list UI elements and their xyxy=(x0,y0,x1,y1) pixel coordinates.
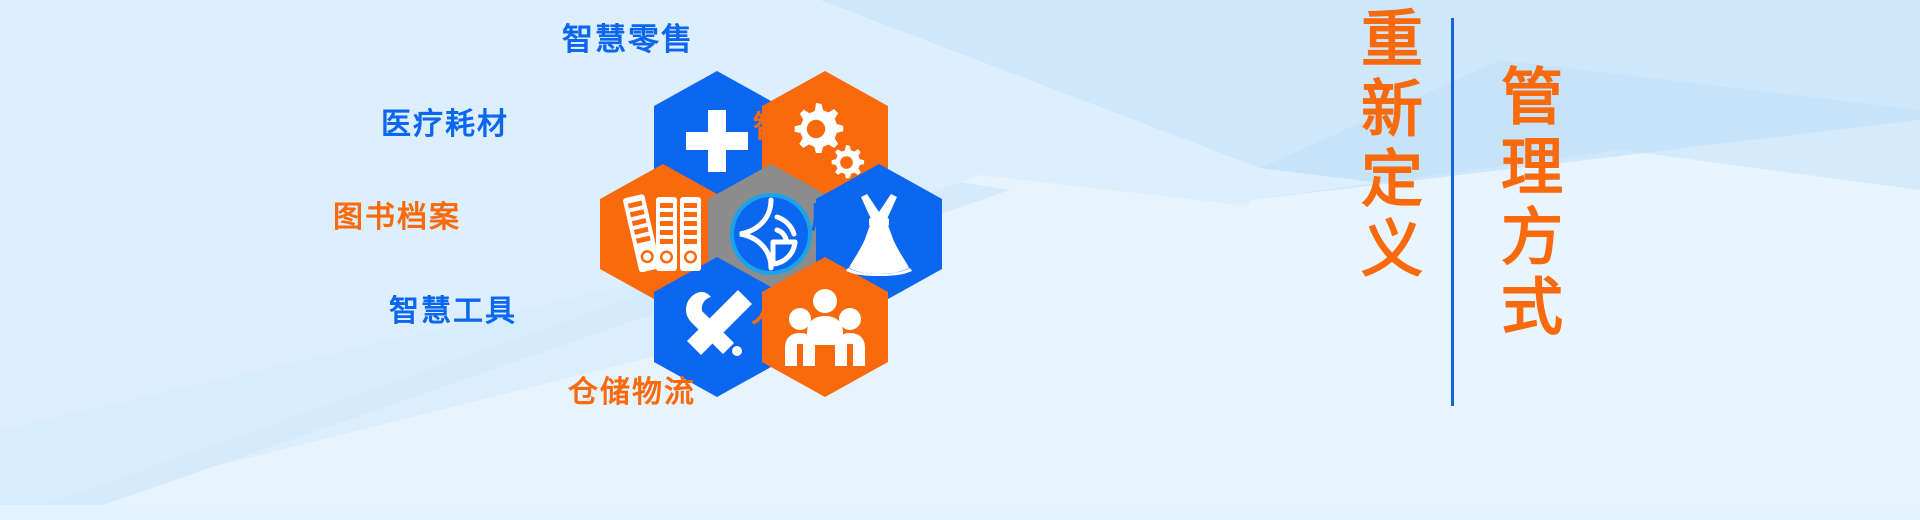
label-warehouse-logistics: 仓储物流 xyxy=(568,367,696,411)
background-decoration xyxy=(0,0,1920,520)
gears-icon xyxy=(783,101,867,181)
vertical-divider xyxy=(1451,18,1454,406)
label-medical-supplies: 医疗耗材 xyxy=(381,99,509,143)
wrench-screwdriver-icon xyxy=(676,286,758,368)
calligraphy-block: 重新定义 管理方式 xyxy=(1300,0,1620,520)
label-smart-retail: 智慧零售 xyxy=(562,14,694,59)
label-smart-tools: 智慧工具 xyxy=(389,286,517,330)
rfid-signal-logo-icon xyxy=(727,190,815,278)
dress-icon xyxy=(840,192,918,276)
binders-icon xyxy=(623,193,703,275)
people-group-icon xyxy=(783,288,867,366)
promotional-banner: 智慧零售 医疗耗材 智能制造 图书档案 服装行业 智慧工具 人员管理 仓储物流 … xyxy=(0,0,1920,520)
calligraphy-right-column: 管理方式 xyxy=(1482,64,1570,344)
calligraphy-left-column: 重新定义 xyxy=(1342,6,1430,286)
medical-cross-icon xyxy=(681,105,753,177)
label-book-archive: 图书档案 xyxy=(333,192,461,236)
